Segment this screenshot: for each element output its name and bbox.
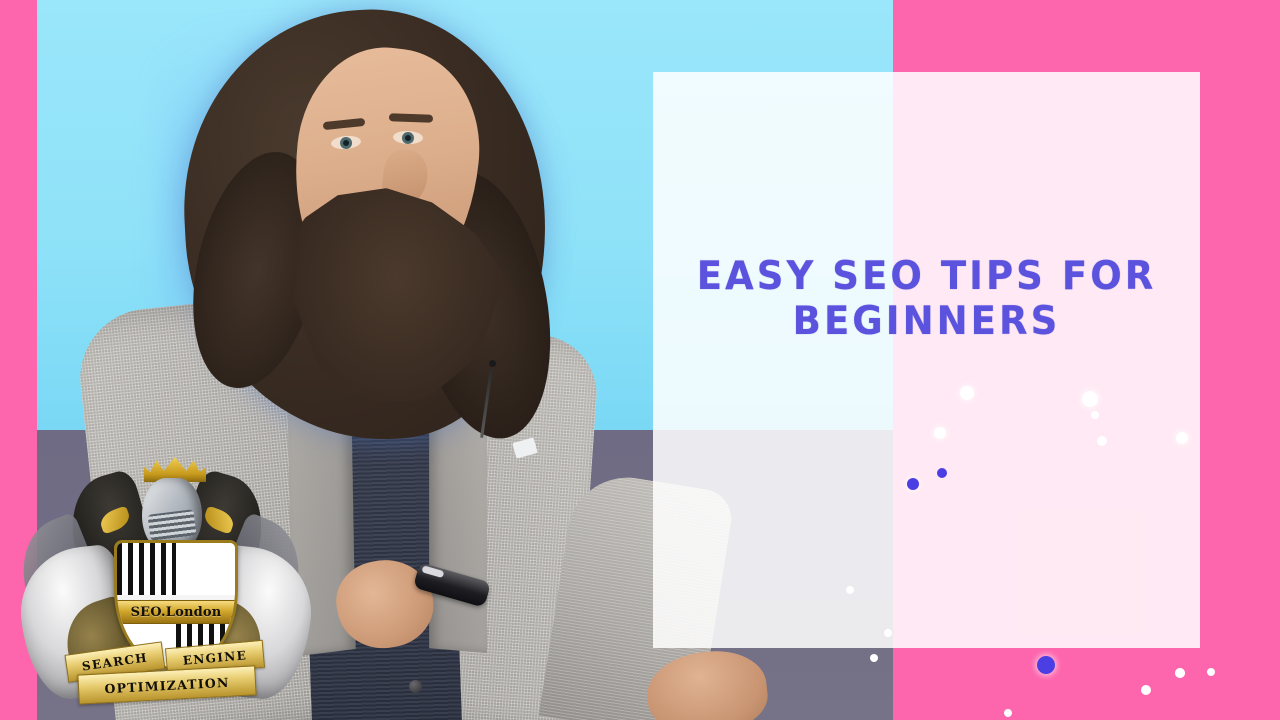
decorative-dot [937,468,947,478]
ribbon-text-search: SEARCH [81,650,149,673]
shield-quarter-2: 🐦 [176,543,235,595]
decorative-dot [1176,432,1188,444]
decorative-dot [1097,436,1107,446]
decorative-dot [1091,411,1099,419]
decorative-dot [1004,709,1012,717]
decorative-dot [960,386,974,400]
decorative-dot [870,654,878,662]
decorative-dot [1141,685,1151,695]
ribbon-text-optimization: OPTIMIZATION [104,674,230,696]
pink-side-panel [893,0,1280,720]
decorative-dot [846,586,854,594]
shield-name-text: SEO.London [131,605,222,620]
eyebrow-right [389,113,433,123]
title-block: EASY SEO TIPS FOR BEGINNERS [653,255,1200,345]
decorative-dot [934,427,946,439]
decorative-dot [907,478,919,490]
shield-quarter-1 [117,543,176,595]
decorative-dot [1037,656,1055,674]
blazer-button [409,680,422,693]
seo-london-logo[interactable]: 🐦 🐦 SEO.London SEARCH ENGINE OPTIMIZATIO… [14,452,314,720]
thumbnail-canvas: EASY SEO TIPS FOR BEGINNERS 🐦 🐦 SEO.Lond… [0,0,1280,720]
page-title: EASY SEO TIPS FOR BEGINNERS [667,255,1187,345]
decorative-dot [1207,668,1215,676]
ribbon-text-engine: ENGINE [182,648,247,668]
decorative-dot [1175,668,1185,678]
decorative-dot [1082,391,1098,407]
lapel-microphone-icon [489,360,496,367]
shield-name-band: SEO.London [114,600,238,624]
decorative-dot [884,629,892,637]
